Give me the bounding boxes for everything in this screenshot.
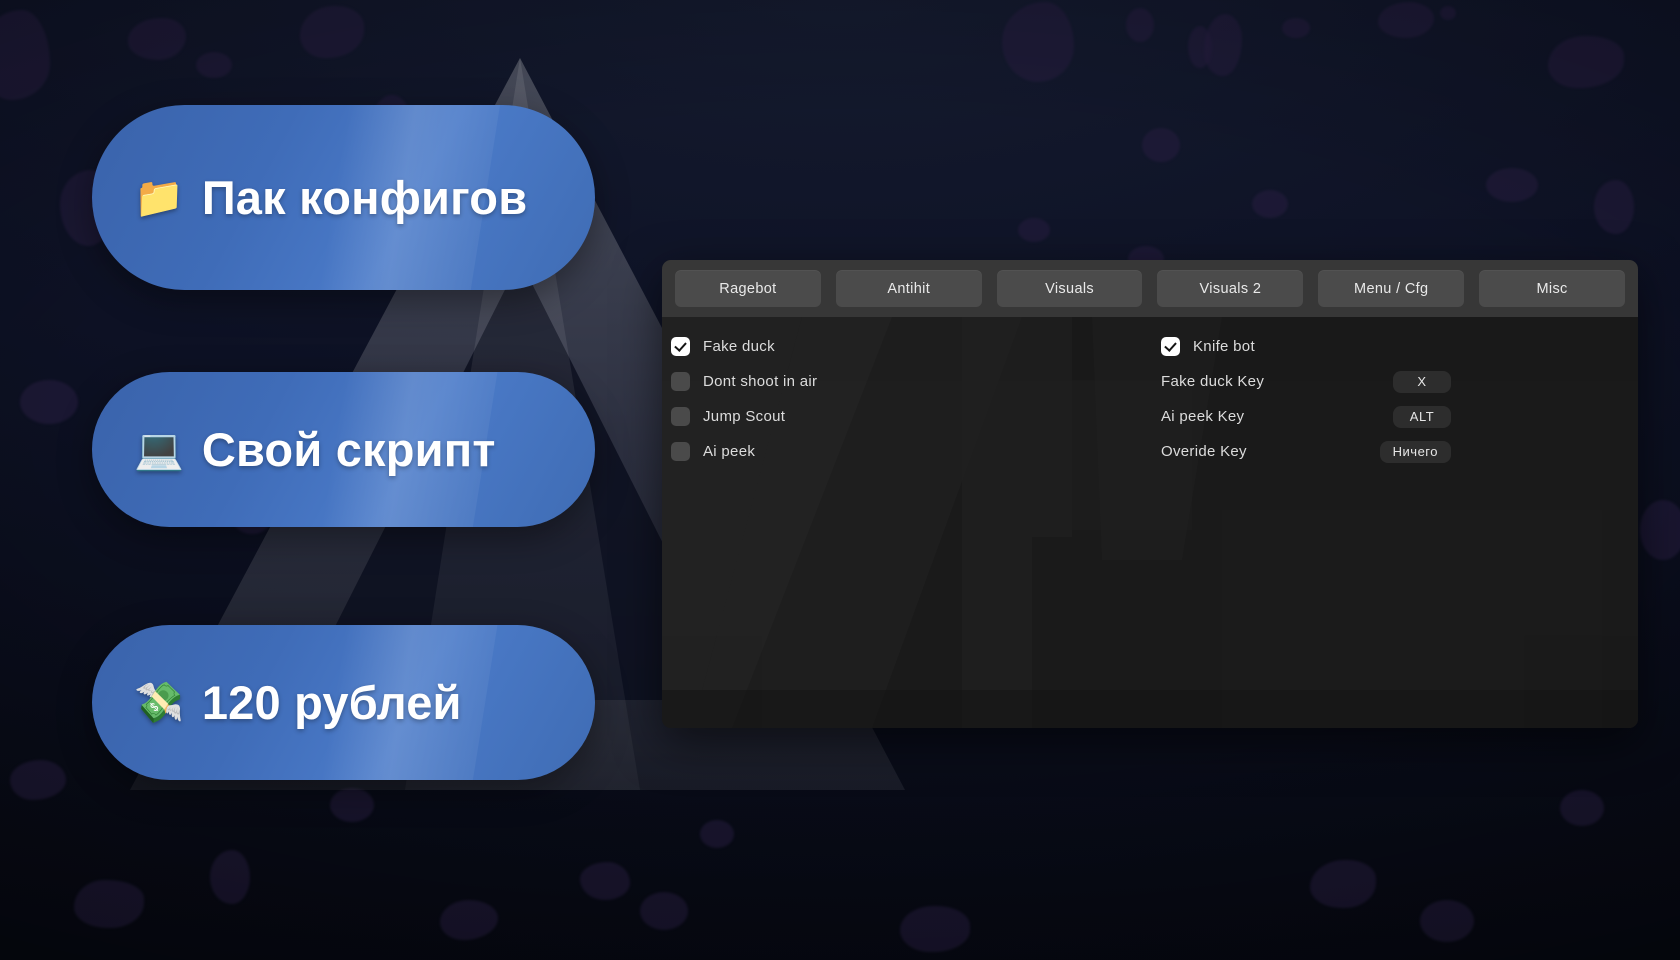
checkbox-dont-shoot-in-air[interactable] — [671, 372, 690, 391]
tab-menu-cfg[interactable]: Menu / Cfg — [1318, 270, 1464, 307]
keybind-label: Ai peek Key — [1161, 408, 1244, 425]
tab-visuals[interactable]: Visuals — [997, 270, 1143, 307]
screenshot-root: 📁 Пак конфигов 💻 Свой скрипт 💸 120 рубле… — [0, 0, 1680, 960]
money-wings-icon: 💸 — [134, 683, 184, 723]
option-label: Knife bot — [1193, 338, 1255, 355]
keybind-label: Overide Key — [1161, 443, 1247, 460]
keybind-fake-duck: Fake duck Key X — [1161, 364, 1619, 399]
promo-pill-script[interactable]: 💻 Свой скрипт — [92, 372, 595, 527]
cheat-menu-panel: Ragebot Antihit Visuals Visuals 2 Menu /… — [662, 260, 1638, 728]
tab-ragebot[interactable]: Ragebot — [675, 270, 821, 307]
option-label: Ai peek — [703, 443, 755, 460]
keybind-value-button[interactable]: X — [1393, 371, 1451, 393]
option-dont-shoot-in-air[interactable]: Dont shoot in air — [671, 364, 1132, 399]
option-jump-scout[interactable]: Jump Scout — [671, 399, 1132, 434]
checkbox-ai-peek[interactable] — [671, 442, 690, 461]
promo-pill-label: 120 рублей — [202, 675, 462, 730]
option-ai-peek[interactable]: Ai peek — [671, 434, 1132, 469]
keybind-overide: Overide Key Ничего — [1161, 434, 1619, 469]
option-label: Fake duck — [703, 338, 775, 355]
keybind-value-button[interactable]: ALT — [1393, 406, 1451, 428]
checkbox-fake-duck[interactable] — [671, 337, 690, 356]
menu-left-column: Fake duck Dont shoot in air Jump Scout A… — [662, 317, 1132, 728]
promo-pill-label: Свой скрипт — [202, 422, 496, 477]
keybind-ai-peek: Ai peek Key ALT — [1161, 399, 1619, 434]
menu-right-column: Knife bot Fake duck Key X Ai peek Key AL… — [1132, 317, 1638, 728]
option-label: Jump Scout — [703, 408, 785, 425]
tab-antihit[interactable]: Antihit — [836, 270, 982, 307]
keybind-value-button[interactable]: Ничего — [1380, 441, 1451, 463]
promo-pill-configs[interactable]: 📁 Пак конфигов — [92, 105, 595, 290]
promo-pill-label: Пак конфигов — [202, 170, 527, 225]
promo-pill-price[interactable]: 💸 120 рублей — [92, 625, 595, 780]
keybind-label: Fake duck Key — [1161, 373, 1264, 390]
checkbox-knife-bot[interactable] — [1161, 337, 1180, 356]
tab-visuals-2[interactable]: Visuals 2 — [1157, 270, 1303, 307]
folder-icon: 📁 — [134, 178, 184, 218]
menu-tabbar: Ragebot Antihit Visuals Visuals 2 Menu /… — [662, 260, 1638, 317]
laptop-icon: 💻 — [134, 430, 184, 470]
option-fake-duck[interactable]: Fake duck — [671, 329, 1132, 364]
menu-body: Fake duck Dont shoot in air Jump Scout A… — [662, 317, 1638, 728]
tab-misc[interactable]: Misc — [1479, 270, 1625, 307]
option-label: Dont shoot in air — [703, 373, 817, 390]
option-knife-bot[interactable]: Knife bot — [1161, 329, 1619, 364]
checkbox-jump-scout[interactable] — [671, 407, 690, 426]
